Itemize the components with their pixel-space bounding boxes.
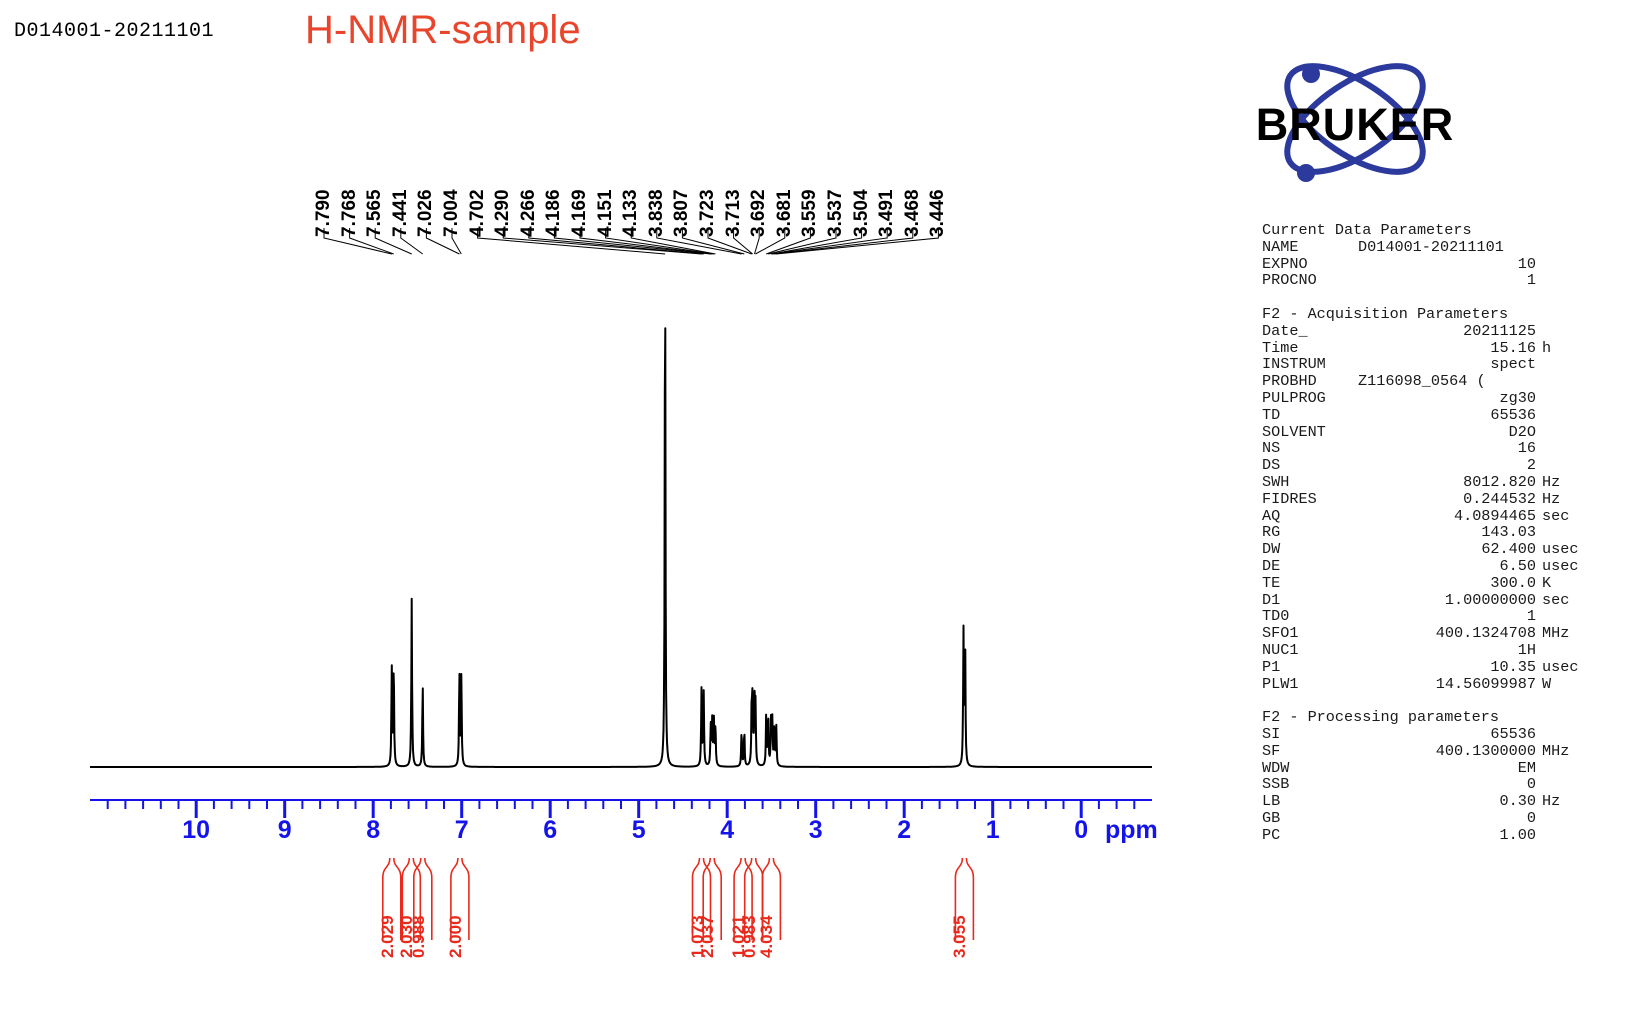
param-row: LB0.30Hz [1262,793,1578,810]
peak-label: 4.151 [595,189,617,237]
param-row: D11.00000000sec [1262,592,1578,609]
axis-tick-label: 4 [720,816,734,845]
integral-value: 0.988 [409,915,429,958]
param-unit: h [1536,340,1551,357]
param-row: PC1.00 [1262,827,1578,844]
param-key: DW [1262,541,1358,558]
param-value: 65536 [1358,726,1536,743]
param-row: TD65536 [1262,407,1578,424]
param-key: TE [1262,575,1358,592]
param-row: TD01 [1262,608,1578,625]
param-spacer [1262,289,1578,306]
param-unit: usec [1536,659,1578,676]
param-unit: Hz [1536,491,1560,508]
axis-tick-label: 2 [897,816,911,845]
param-value: 4.0894465 [1358,508,1536,525]
param-key: SOLVENT [1262,424,1358,441]
peak-label: 7.768 [339,189,361,237]
peak-label: 3.681 [774,189,796,237]
integral-value: 2.037 [698,915,718,958]
param-key: EXPNO [1262,256,1358,273]
bruker-atom-icon: BRUKER [1240,52,1470,187]
param-key: AQ [1262,508,1358,525]
param-row: NUC11H [1262,642,1578,659]
param-row: SFO1400.1324708MHz [1262,625,1578,642]
param-row: GB0 [1262,810,1578,827]
param-value: 2 [1358,457,1536,474]
param-row: SI65536 [1262,726,1578,743]
param-value: 1 [1358,272,1536,289]
peak-label: 4.133 [620,189,642,237]
param-key: SFO1 [1262,625,1358,642]
param-value: 10 [1358,256,1536,273]
param-key: NUC1 [1262,642,1358,659]
peak-label: 3.559 [799,189,821,237]
param-row: EXPNO10 [1262,256,1578,273]
peak-label: 3.468 [902,189,924,237]
param-unit: Hz [1536,793,1560,810]
param-value: 400.1300000 [1358,743,1536,760]
param-unit: Hz [1536,474,1560,491]
peak-label: 4.702 [467,189,489,237]
param-row: SWH8012.820Hz [1262,474,1578,491]
integral-value: 3.055 [950,915,970,958]
param-key: RG [1262,524,1358,541]
peak-label: 7.004 [441,189,463,237]
peak-label: 3.446 [927,189,949,237]
peak-label: 7.441 [390,189,412,237]
param-row: SSB0 [1262,776,1578,793]
param-value: 1.00000000 [1358,592,1536,609]
axis-tick-label: 6 [543,816,557,845]
param-value: 16 [1358,440,1536,457]
param-key: P1 [1262,659,1358,676]
param-row: NS16 [1262,440,1578,457]
param-unit: usec [1536,541,1578,558]
param-row: SF400.1300000MHz [1262,743,1578,760]
param-key: PROBHD [1262,373,1358,390]
axis-tick-label: 1 [986,816,1000,845]
param-unit: K [1536,575,1551,592]
param-value: D014001-20211101 [1358,239,1504,256]
param-row: PROBHDZ116098_0564 ( [1262,373,1578,390]
param-row: Date_20211125 [1262,323,1578,340]
peak-label-group: 7.7907.7687.5657.4417.0267.0044.7024.290… [0,0,1200,300]
axis-tick-label: 5 [632,816,646,845]
axis-tick-label: 9 [278,816,292,845]
peak-label: 3.491 [876,189,898,237]
nmr-spectrum-report: D014001-20211101 H-NMR-sample BRUKER Cur… [0,0,1646,1012]
param-value: 20211125 [1358,323,1536,340]
integral-value: 4.034 [757,915,777,958]
peak-label: 4.266 [518,189,540,237]
param-row: TE300.0K [1262,575,1578,592]
param-unit: sec [1536,508,1569,525]
param-unit: usec [1536,558,1578,575]
peak-label: 4.290 [492,189,514,237]
peak-label: 4.186 [543,189,565,237]
param-value: 0 [1358,810,1536,827]
param-section-heading: F2 - Processing parameters [1262,709,1578,726]
param-key: PULPROG [1262,390,1358,407]
param-row: RG143.03 [1262,524,1578,541]
param-value: 1.00 [1358,827,1536,844]
param-unit: MHz [1536,625,1569,642]
axis-tick-label: 7 [455,816,469,845]
param-key: NAME [1262,239,1358,256]
spectrum-trace [90,328,1152,767]
param-value: 15.16 [1358,340,1536,357]
peak-label: 4.169 [569,189,591,237]
bruker-logo: BRUKER [1240,52,1470,187]
peak-label: 3.692 [748,189,770,237]
param-value: 143.03 [1358,524,1536,541]
param-row: DE6.50usec [1262,558,1578,575]
param-unit: sec [1536,592,1569,609]
parameter-panel: Current Data ParametersNAMED014001-20211… [1262,222,1578,843]
param-value: EM [1358,760,1536,777]
axis-tick-label: 3 [809,816,823,845]
integral-curves [383,858,974,940]
peak-label: 3.807 [671,189,693,237]
peak-label: 7.565 [364,189,386,237]
param-row: P110.35usec [1262,659,1578,676]
param-key: SWH [1262,474,1358,491]
param-row: INSTRUMspect [1262,356,1578,373]
param-row: FIDRES0.244532Hz [1262,491,1578,508]
param-key: TD0 [1262,608,1358,625]
param-spacer [1262,692,1578,709]
param-row: Time15.16h [1262,340,1578,357]
param-value: 6.50 [1358,558,1536,575]
param-key: DS [1262,457,1358,474]
param-value: spect [1358,356,1536,373]
peak-label: 3.504 [851,189,873,237]
param-value: 10.35 [1358,659,1536,676]
param-value: Z116098_0564 ( [1358,373,1486,390]
param-key: Date_ [1262,323,1358,340]
param-value: 14.56099987 [1358,676,1536,693]
param-row: DS2 [1262,457,1578,474]
param-unit: W [1536,676,1551,693]
param-row: AQ4.0894465sec [1262,508,1578,525]
param-value: D2O [1358,424,1536,441]
param-value: 65536 [1358,407,1536,424]
peak-label: 3.537 [825,189,847,237]
param-key: SSB [1262,776,1358,793]
param-section-heading: F2 - Acquisition Parameters [1262,306,1578,323]
param-key: LB [1262,793,1358,810]
param-key: Time [1262,340,1358,357]
axis-tick-label: 10 [182,816,210,845]
axis-unit-label: ppm [1105,816,1158,845]
param-value: 8012.820 [1358,474,1536,491]
param-row: NAMED014001-20211101 [1262,239,1578,256]
peak-label: 3.838 [646,189,668,237]
param-value: zg30 [1358,390,1536,407]
param-key: NS [1262,440,1358,457]
peak-label: 3.713 [723,189,745,237]
axis-tick-label: 0 [1074,816,1088,845]
param-key: PC [1262,827,1358,844]
param-key: TD [1262,407,1358,424]
param-row: WDWEM [1262,760,1578,777]
param-row: SOLVENTD2O [1262,424,1578,441]
bruker-wordmark: BRUKER [1256,99,1455,150]
param-row: PROCNO1 [1262,272,1578,289]
param-value: 0 [1358,776,1536,793]
param-value: 1 [1358,608,1536,625]
integral-value: 2.029 [378,915,398,958]
param-value: 0.244532 [1358,491,1536,508]
param-section-heading: Current Data Parameters [1262,222,1578,239]
peak-label: 7.790 [313,189,335,237]
param-unit: MHz [1536,743,1569,760]
integral-value: 2.000 [446,915,466,958]
param-key: DE [1262,558,1358,575]
param-value: 0.30 [1358,793,1536,810]
param-value: 300.0 [1358,575,1536,592]
param-key: FIDRES [1262,491,1358,508]
param-row: PULPROGzg30 [1262,390,1578,407]
param-key: SI [1262,726,1358,743]
param-key: WDW [1262,760,1358,777]
axis-tick-label: 8 [366,816,380,845]
peak-label: 3.723 [697,189,719,237]
param-key: PLW1 [1262,676,1358,693]
param-value: 62.400 [1358,541,1536,558]
param-key: INSTRUM [1262,356,1358,373]
param-key: SF [1262,743,1358,760]
param-value: 1H [1358,642,1536,659]
param-key: D1 [1262,592,1358,609]
param-key: PROCNO [1262,272,1358,289]
param-key: GB [1262,810,1358,827]
param-row: PLW114.56099987W [1262,676,1578,693]
peak-label: 7.026 [415,189,437,237]
param-row: DW62.400usec [1262,541,1578,558]
param-value: 400.1324708 [1358,625,1536,642]
